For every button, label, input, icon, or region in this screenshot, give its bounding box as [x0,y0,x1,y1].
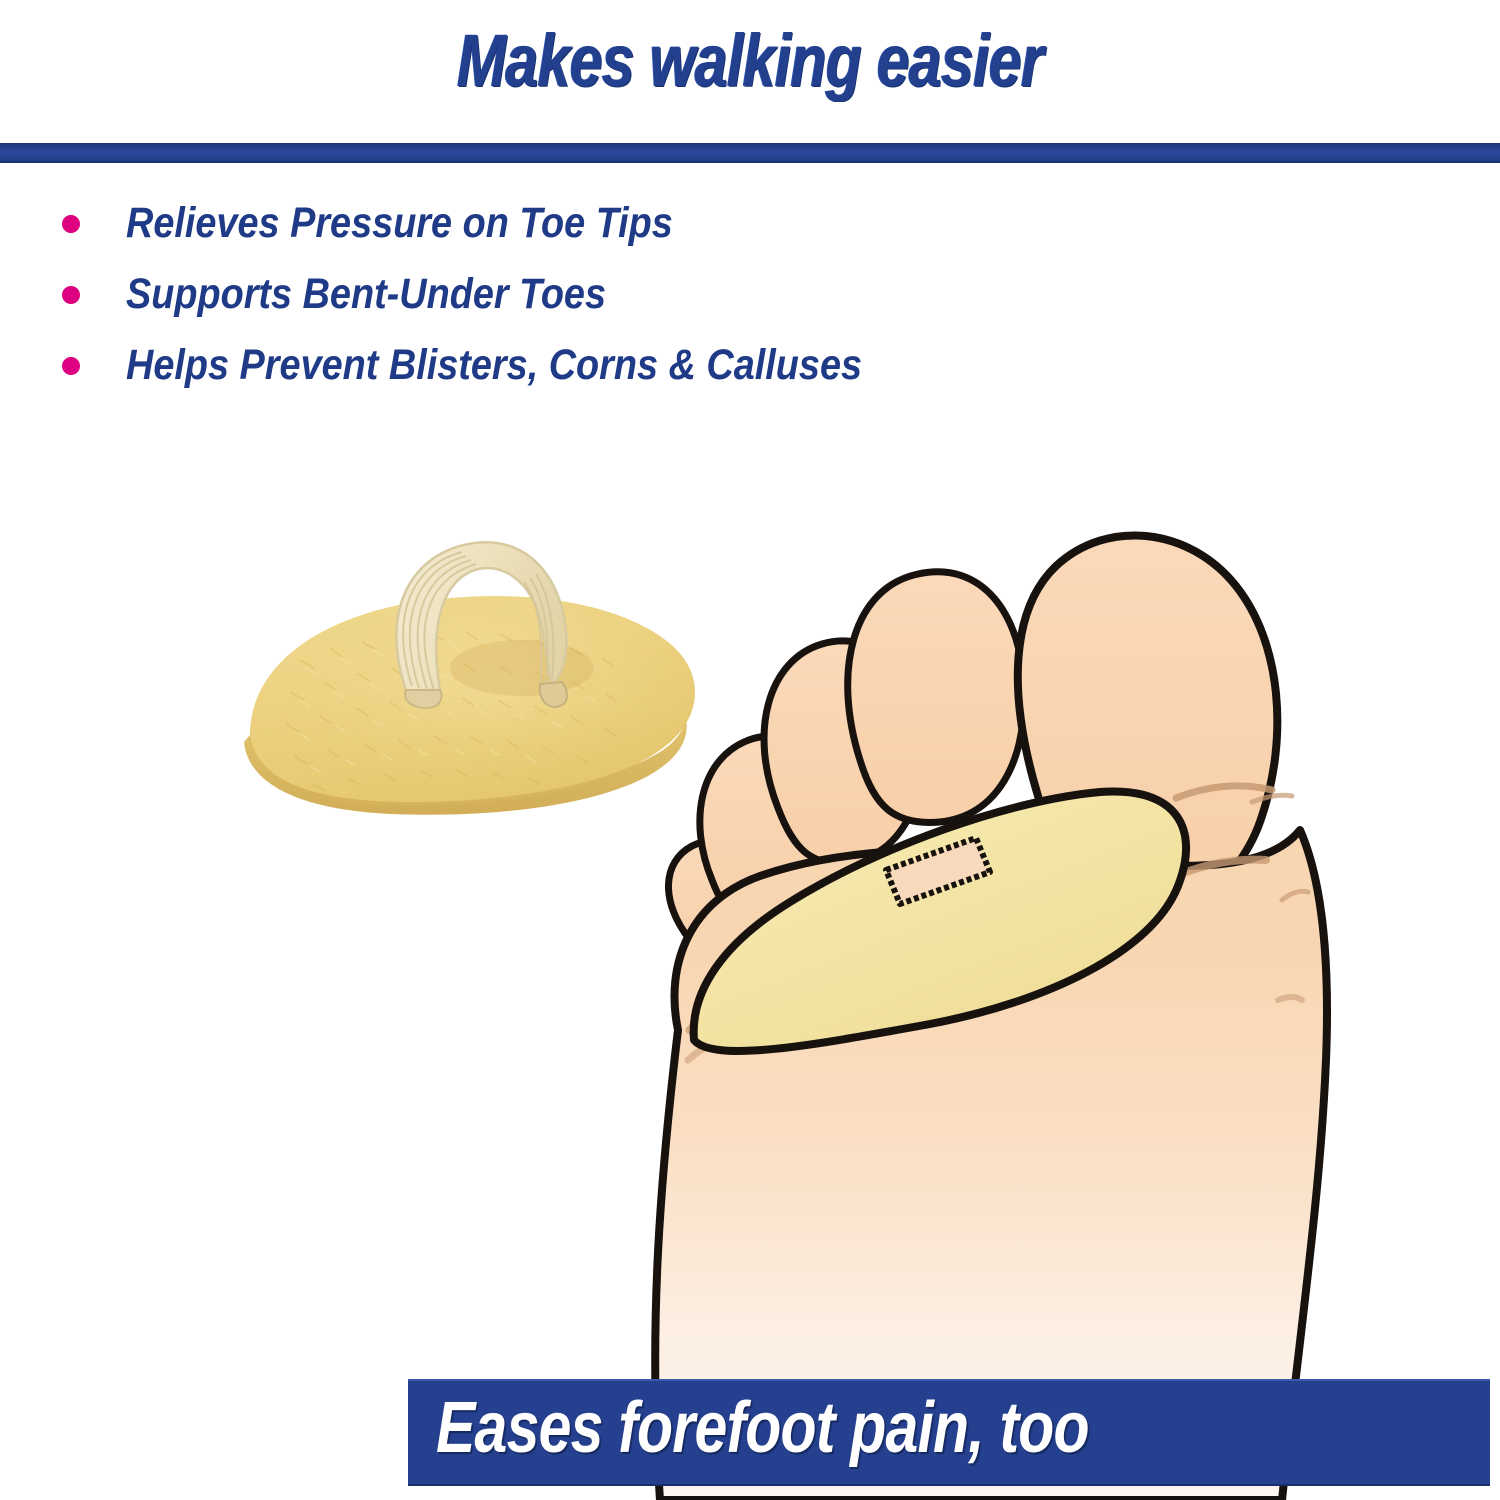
list-item: Supports Bent-Under Toes [44,259,1044,330]
toe-fifth [668,841,775,975]
bullet-dot-icon [62,357,80,375]
bullet-dot-icon [62,215,80,233]
pad-toe-loop-opening [886,838,990,904]
bullet-dot-icon [62,286,80,304]
foot-sole-illustration [655,535,1327,1500]
benefit-label: Supports Bent-Under Toes [126,270,606,319]
elastic-toe-loop [396,542,567,708]
foam-crest-pad [250,596,695,806]
benefit-label: Relieves Pressure on Toe Tips [126,199,673,248]
benefit-label: Helps Prevent Blisters, Corns & Calluses [126,341,862,390]
list-item: Relieves Pressure on Toe Tips [44,188,1044,259]
foot-creases [688,786,1308,1060]
header-divider-bar [0,143,1500,163]
footer-banner-label: Eases forefoot pain, too [436,1387,1089,1469]
toe-big [1018,535,1278,908]
page-title: Makes walking easier [150,18,1350,103]
footer-banner: Eases forefoot pain, too [408,1379,1490,1486]
toe-fourth [700,736,843,931]
foam-texture [240,590,710,820]
benefits-list: Relieves Pressure on Toe Tips Supports B… [44,188,1044,401]
hammer-toe-crest-cushion [240,542,710,820]
toe-second [848,572,1024,823]
foam-pad-edge [244,718,687,815]
list-item: Helps Prevent Blisters, Corns & Calluses [44,330,1044,401]
applied-crest-pad [694,791,1186,1051]
toe-third [764,641,922,863]
